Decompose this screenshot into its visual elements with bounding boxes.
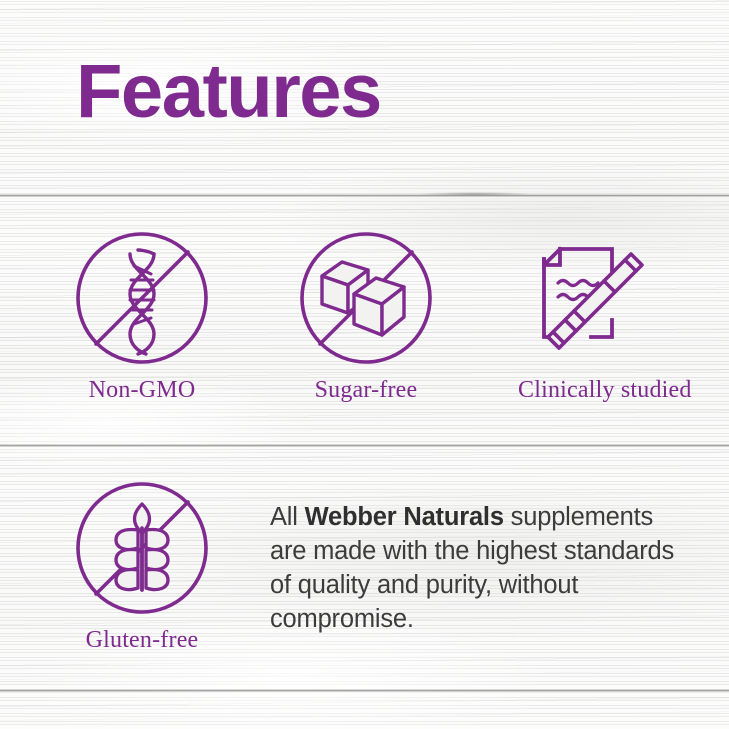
blurb-brand: Webber Naturals bbox=[305, 503, 504, 531]
features-poster: Features Non-GMO bbox=[0, 0, 729, 729]
wheat-no-circle-icon bbox=[72, 478, 212, 618]
brand-blurb: All Webber Naturals supplements are made… bbox=[270, 500, 690, 636]
feature-label-gluten-free: Gluten-free bbox=[72, 627, 212, 654]
plank-seam-bottom bbox=[0, 689, 729, 692]
page-title: Features bbox=[76, 54, 381, 130]
blurb-lead: All bbox=[270, 503, 305, 531]
feature-label-clinically-studied: Clinically studied bbox=[518, 377, 658, 404]
dna-no-circle-icon bbox=[72, 228, 212, 368]
wood-knot-mark bbox=[420, 192, 530, 196]
feature-gluten-free: Gluten-free bbox=[72, 478, 212, 654]
feature-label-non-gmo: Non-GMO bbox=[72, 377, 212, 404]
feature-sugar-free: Sugar-free bbox=[296, 228, 436, 404]
plank-seam-top bbox=[0, 194, 729, 197]
feature-non-gmo: Non-GMO bbox=[72, 228, 212, 404]
feature-label-sugar-free: Sugar-free bbox=[296, 377, 436, 404]
document-with-pen-icon bbox=[518, 228, 658, 368]
feature-clinically-studied: Clinically studied bbox=[518, 228, 658, 404]
plank-seam-middle bbox=[0, 444, 729, 447]
sugar-cubes-no-circle-icon bbox=[296, 228, 436, 368]
